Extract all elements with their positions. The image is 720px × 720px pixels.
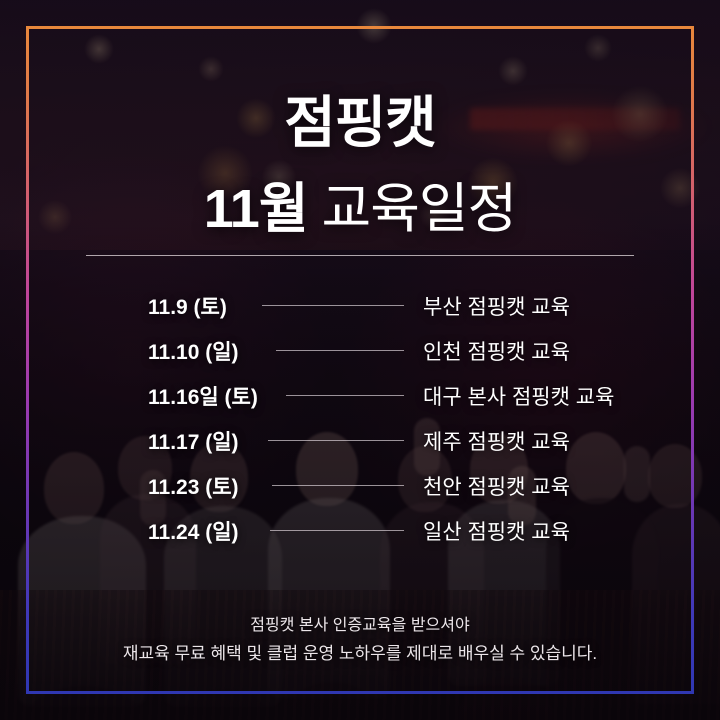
schedule-date: 11.23 (토) xyxy=(148,471,239,501)
title-rest: 교육일정 xyxy=(308,179,517,239)
schedule-date: 11.16일 (토) xyxy=(148,381,258,411)
schedule-date: 11.24 (일) xyxy=(148,516,239,546)
schedule-connector-line xyxy=(270,530,404,531)
schedule-connector-line xyxy=(286,395,404,396)
schedule-location: 인천 점핑캣 교육 xyxy=(423,336,570,366)
schedule-row: 11.16일 (토)대구 본사 점핑캣 교육 xyxy=(0,373,720,418)
schedule-list: 11.9 (토)부산 점핑캣 교육11.10 (일)인천 점핑캣 교육11.16… xyxy=(0,283,720,553)
schedule-location: 제주 점핑캣 교육 xyxy=(423,426,570,456)
schedule-location: 대구 본사 점핑캣 교육 xyxy=(423,381,614,411)
schedule-row: 11.23 (토)천안 점핑캣 교육 xyxy=(0,463,720,508)
schedule-connector-line xyxy=(268,440,404,441)
header-divider xyxy=(86,255,634,256)
title-month: 11월 xyxy=(204,179,308,239)
footer-line-2: 재교육 무료 혜택 및 클럽 운영 노하우를 제대로 배우실 수 있습니다. xyxy=(0,640,720,668)
footer-note: 점핑캣 본사 인증교육을 받으셔야 재교육 무료 혜택 및 클럽 운영 노하우를… xyxy=(0,612,720,668)
schedule-row: 11.10 (일)인천 점핑캣 교육 xyxy=(0,328,720,373)
page-title: 11월 교육일정 xyxy=(0,164,720,243)
schedule-location: 천안 점핑캣 교육 xyxy=(423,471,570,501)
schedule-row: 11.17 (일)제주 점핑캣 교육 xyxy=(0,418,720,463)
schedule-row: 11.9 (토)부산 점핑캣 교육 xyxy=(0,283,720,328)
schedule-row: 11.24 (일)일산 점핑캣 교육 xyxy=(0,508,720,553)
brand-title: 점핑캣 xyxy=(0,78,720,159)
schedule-date: 11.9 (토) xyxy=(148,291,227,321)
schedule-location: 일산 점핑캣 교육 xyxy=(423,516,570,546)
schedule-connector-line xyxy=(272,485,404,486)
schedule-date: 11.10 (일) xyxy=(148,336,239,366)
promo-poster: 점핑캣 11월 교육일정 11.9 (토)부산 점핑캣 교육11.10 (일)인… xyxy=(0,0,720,720)
schedule-location: 부산 점핑캣 교육 xyxy=(423,291,570,321)
schedule-connector-line xyxy=(276,350,404,351)
schedule-date: 11.17 (일) xyxy=(148,426,239,456)
schedule-connector-line xyxy=(262,305,404,306)
footer-line-1: 점핑캣 본사 인증교육을 받으셔야 xyxy=(0,612,720,640)
poster-content: 점핑캣 11월 교육일정 11.9 (토)부산 점핑캣 교육11.10 (일)인… xyxy=(0,0,720,720)
